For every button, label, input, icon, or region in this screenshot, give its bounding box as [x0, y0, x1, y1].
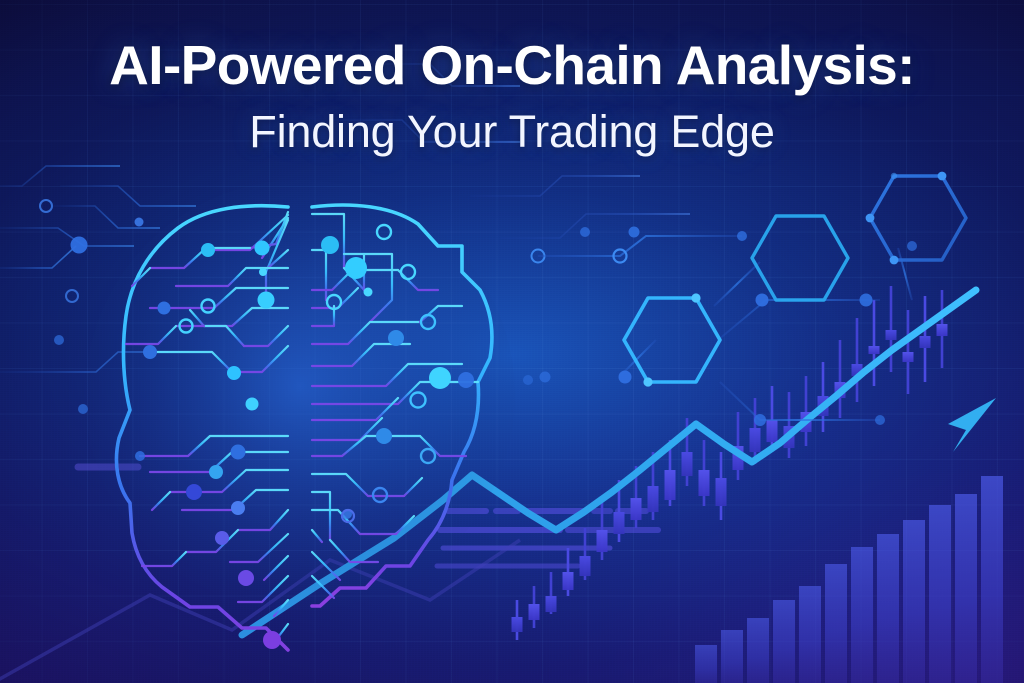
hexagon-lower: [624, 298, 720, 382]
hexagon-shapes: [624, 172, 966, 387]
banner-canvas: AI-Powered On-Chain Analysis: Finding Yo…: [0, 0, 1024, 683]
network-links: [466, 218, 1024, 420]
hexagon-top-right: [870, 176, 966, 260]
hexagon-network-layer: [0, 0, 1024, 683]
